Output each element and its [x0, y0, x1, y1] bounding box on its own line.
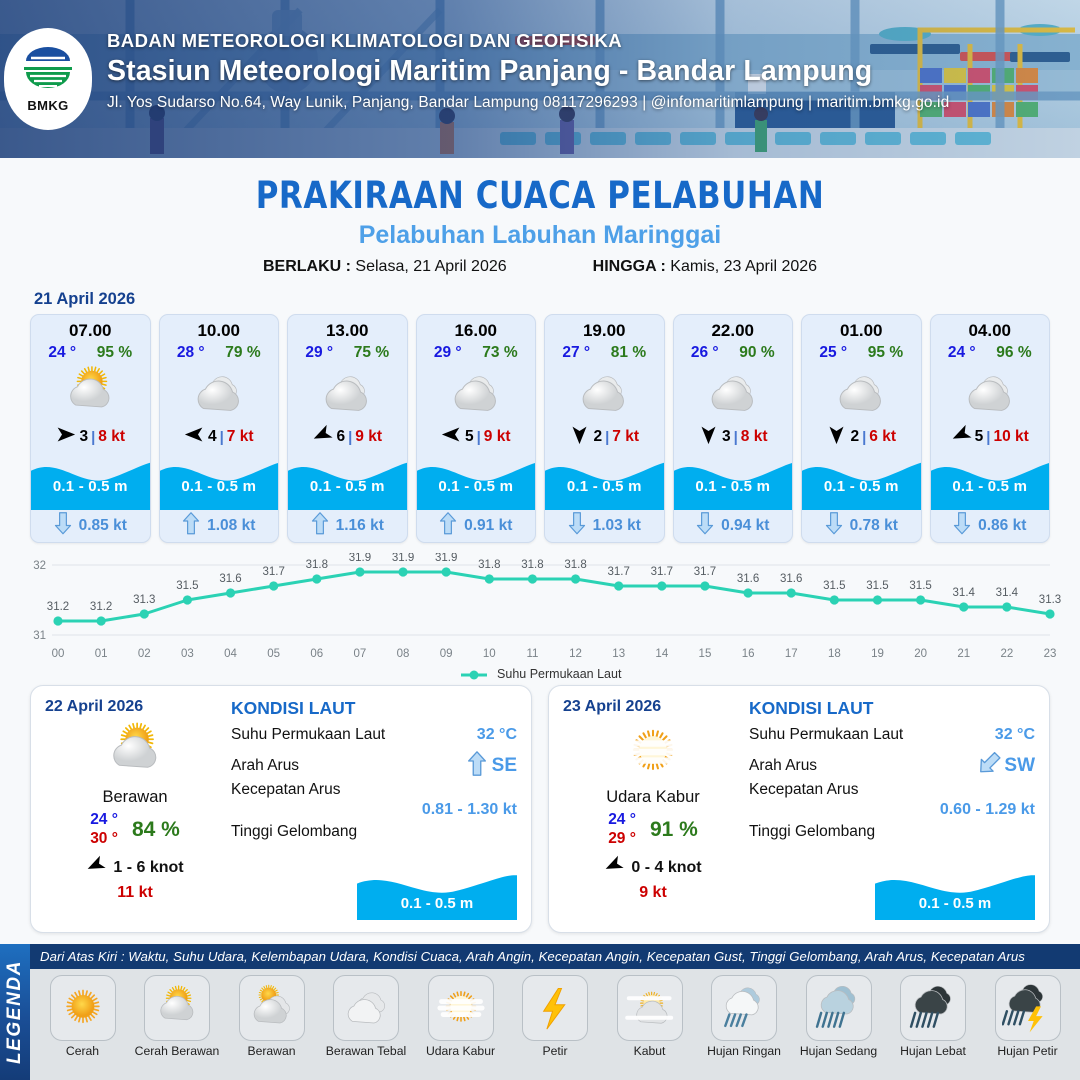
daily-summary-panels: 22 April 2026 Berawan 24 ° 30 ° 84 % 1 -… [0, 681, 1080, 933]
hingga-value: Kamis, 23 April 2026 [670, 258, 817, 275]
card-wind-direction: 3 [79, 428, 88, 446]
svg-text:31.5: 31.5 [823, 580, 845, 592]
svg-text:31.9: 31.9 [435, 553, 457, 564]
lightning-icon [522, 975, 588, 1041]
panel-wind-row: 1 - 6 knot [45, 855, 225, 880]
cloud-icon [802, 362, 921, 424]
thunderstorm-icon [995, 975, 1061, 1041]
card-wave-height: 0.1 - 0.5 m [802, 478, 921, 495]
card-wind-direction: 6 [336, 428, 345, 446]
card-wind-row: 4 | 7 kt [160, 422, 279, 452]
validity-dates: BERLAKU : Selasa, 21 April 2026 HINGGA :… [0, 258, 1080, 276]
panel-right: KONDISI LAUT Suhu Permukaan Laut 32 °C A… [743, 698, 1035, 922]
contact-line: Jl. Yos Sudarso No.64, Way Lunik, Panjan… [107, 94, 949, 112]
legend-item: Petir [511, 975, 600, 1058]
card-current-row: 1.16 kt [288, 510, 407, 542]
panel-date: 23 April 2026 [563, 698, 743, 716]
card-time: 10.00 [160, 321, 279, 341]
current-direction-arrow-icon [568, 512, 586, 540]
daily-summary-panel: 23 April 2026 Udara Kabur 24 ° 29 ° 91 %… [548, 685, 1050, 933]
moderate-rain-icon [806, 975, 872, 1041]
svg-text:12: 12 [569, 648, 582, 660]
svg-text:31.5: 31.5 [176, 580, 198, 592]
card-current-speed: 0.86 kt [978, 517, 1026, 535]
card-separator: | [862, 429, 866, 446]
card-humidity: 96 % [996, 344, 1031, 362]
sun-cloud-icon [45, 718, 225, 786]
daily-summary-panel: 22 April 2026 Berawan 24 ° 30 ° 84 % 1 -… [30, 685, 532, 933]
card-wind-speed: 7 kt [612, 428, 639, 446]
clouds-icon [333, 975, 399, 1041]
panel-sst-value: 32 °C [477, 726, 517, 744]
svg-text:31.7: 31.7 [694, 566, 716, 578]
svg-text:07: 07 [354, 648, 367, 660]
card-wind-row: 3 | 8 kt [31, 422, 150, 452]
panel-date: 22 April 2026 [45, 698, 225, 716]
svg-text:31.3: 31.3 [133, 594, 155, 606]
card-wave-block: 0.1 - 0.5 m [545, 454, 664, 510]
panel-sst-value: 32 °C [995, 726, 1035, 744]
card-temperature: 28 ° [177, 344, 205, 362]
card-time: 16.00 [417, 321, 536, 341]
card-temp-humidity-row: 24 ° 96 % [931, 344, 1050, 362]
card-temp-humidity-row: 24 ° 95 % [31, 344, 150, 362]
card-wind-row: 2 | 7 kt [545, 422, 664, 452]
svg-text:31.5: 31.5 [909, 580, 931, 592]
panel-condition: Udara Kabur [563, 788, 743, 807]
card-current-row: 0.85 kt [31, 510, 150, 542]
card-separator: | [986, 429, 990, 446]
legend-item-row: Cerah Cerah Berawan Berawan Berawan Teba… [30, 969, 1080, 1058]
panel-current-speed-value: 0.60 - 1.29 kt [749, 801, 1035, 819]
forecast-card: 13.00 29 ° 75 % 6 | 9 kt 0.1 - 0.5 m 1.1… [287, 314, 408, 543]
current-direction-arrow-icon [467, 751, 487, 781]
haze-sun-icon [563, 718, 743, 786]
legend-body: Dari Atas Kiri : Waktu, Suhu Udara, Kele… [30, 944, 1080, 1080]
panel-current-dir-row: Arah Arus SW [749, 751, 1035, 781]
svg-text:31.5: 31.5 [866, 580, 888, 592]
card-wave-height: 0.1 - 0.5 m [545, 478, 664, 495]
svg-text:19: 19 [871, 648, 884, 660]
svg-text:31.8: 31.8 [478, 559, 500, 571]
svg-text:31.2: 31.2 [47, 601, 69, 613]
berlaku-group: BERLAKU : Selasa, 21 April 2026 [263, 258, 507, 276]
card-current-speed: 0.91 kt [464, 517, 512, 535]
panel-temp-min: 24 ° [608, 811, 636, 829]
svg-text:13: 13 [612, 648, 625, 660]
card-wind-row: 6 | 9 kt [288, 422, 407, 452]
card-wave-height: 0.1 - 0.5 m [674, 478, 793, 495]
legend-item: Berawan Tebal [322, 975, 411, 1058]
heavy-rain-icon [900, 975, 966, 1041]
svg-text:31.7: 31.7 [608, 566, 630, 578]
card-wind-direction: 4 [208, 428, 217, 446]
card-time: 19.00 [545, 321, 664, 341]
sun-cloud-icon [31, 362, 150, 424]
panel-current-dir-value-group: SE [467, 751, 517, 781]
card-wind-direction: 3 [722, 428, 731, 446]
card-current-speed: 0.94 kt [721, 517, 769, 535]
hingga-group: HINGGA : Kamis, 23 April 2026 [593, 258, 817, 276]
panel-wave-label: Tinggi Gelombang [749, 823, 1035, 841]
card-current-speed: 0.78 kt [850, 517, 898, 535]
card-wave-block: 0.1 - 0.5 m [31, 454, 150, 510]
card-humidity: 79 % [225, 344, 260, 362]
cloud-icon [288, 362, 407, 424]
legend-item: Cerah Berawan [133, 975, 222, 1058]
card-humidity: 90 % [739, 344, 774, 362]
legend-item-label: Udara Kabur [416, 1044, 505, 1058]
cloud-sun-icon [239, 975, 305, 1041]
svg-text:22: 22 [1000, 648, 1013, 660]
svg-text:02: 02 [138, 648, 151, 660]
card-current-speed: 1.08 kt [207, 517, 255, 535]
card-wind-direction: 5 [465, 428, 474, 446]
card-temp-humidity-row: 26 ° 90 % [674, 344, 793, 362]
panel-wave-block: 0.1 - 0.5 m [875, 868, 1035, 920]
card-current-row: 1.03 kt [545, 510, 664, 542]
card-wave-block: 0.1 - 0.5 m [288, 454, 407, 510]
card-wind-direction: 2 [593, 428, 602, 446]
station-name: Stasiun Meteorologi Maritim Panjang - Ba… [107, 55, 949, 88]
panel-current-dir-value: SW [1004, 755, 1035, 777]
fog-icon [617, 975, 683, 1041]
header-text-block: BADAN METEOROLOGI KLIMATOLOGI DAN GEOFIS… [107, 30, 949, 112]
card-separator: | [477, 429, 481, 446]
svg-text:31.6: 31.6 [737, 573, 759, 585]
legend-item: Hujan Lebat [889, 975, 978, 1058]
svg-text:23: 23 [1044, 648, 1057, 660]
card-wind-speed: 9 kt [484, 428, 511, 446]
panel-sst-row: Suhu Permukaan Laut 32 °C [231, 726, 517, 744]
page-header: BMKG BADAN METEOROLOGI KLIMATOLOGI DAN G… [0, 0, 1080, 158]
legend-item: Hujan Ringan [700, 975, 789, 1058]
card-current-speed: 1.03 kt [593, 517, 641, 535]
card-temp-humidity-row: 25 ° 95 % [802, 344, 921, 362]
legend-side-bar: LEGENDA [0, 944, 30, 1080]
wind-direction-arrow-icon [55, 424, 76, 450]
panel-gust: 11 kt [45, 884, 225, 902]
forecast-card: 22.00 26 ° 90 % 3 | 8 kt 0.1 - 0.5 m 0.9… [673, 314, 794, 543]
panel-current-dir-label: Arah Arus [231, 757, 299, 775]
cloud-icon [674, 362, 793, 424]
wind-direction-arrow-icon [86, 855, 106, 880]
panel-current-dir-value-group: SW [979, 751, 1035, 781]
svg-text:00: 00 [52, 648, 65, 660]
cloud-icon [160, 362, 279, 424]
card-separator: | [220, 429, 224, 446]
card-temperature: 24 ° [948, 344, 976, 362]
card-humidity: 95 % [97, 344, 132, 362]
card-time: 04.00 [931, 321, 1050, 341]
wind-direction-arrow-icon [441, 424, 462, 450]
card-current-row: 0.86 kt [931, 510, 1050, 542]
legend-item: Hujan Petir [983, 975, 1072, 1058]
svg-text:31.8: 31.8 [306, 559, 328, 571]
panel-sst-label: Suhu Permukaan Laut [231, 726, 385, 744]
card-separator: | [734, 429, 738, 446]
card-current-row: 0.91 kt [417, 510, 536, 542]
card-current-speed: 1.16 kt [336, 517, 384, 535]
legend-side-title: LEGENDA [4, 960, 26, 1064]
panel-gust: 9 kt [563, 884, 743, 902]
card-wave-height: 0.1 - 0.5 m [160, 478, 279, 495]
card-wind-row: 3 | 8 kt [674, 422, 793, 452]
berlaku-label: BERLAKU : [263, 258, 351, 275]
svg-text:06: 06 [310, 648, 323, 660]
card-wind-row: 5 | 9 kt [417, 422, 536, 452]
current-direction-arrow-icon [696, 512, 714, 540]
wind-direction-arrow-icon [569, 424, 590, 450]
svg-text:31.4: 31.4 [953, 587, 976, 599]
panel-wave-block: 0.1 - 0.5 m [357, 868, 517, 920]
bmkg-logo-text: BMKG [27, 98, 68, 113]
card-temperature: 24 ° [48, 344, 76, 362]
card-wind-speed: 7 kt [227, 428, 254, 446]
wind-direction-arrow-icon [184, 424, 205, 450]
panel-condition: Berawan [45, 788, 225, 807]
card-temperature: 29 ° [434, 344, 462, 362]
svg-text:31.4: 31.4 [996, 587, 1019, 599]
legend-item: Cerah [38, 975, 127, 1058]
card-wind-direction: 2 [850, 428, 859, 446]
svg-text:31.3: 31.3 [1039, 594, 1061, 606]
panel-humidity: 84 % [132, 818, 180, 842]
card-humidity: 75 % [354, 344, 389, 362]
panel-current-speed-block: Kecepatan Arus 0.81 - 1.30 kt [231, 781, 517, 819]
svg-text:09: 09 [440, 648, 453, 660]
card-wave-block: 0.1 - 0.5 m [674, 454, 793, 510]
page-subtitle: Pelabuhan Labuhan Maringgai [0, 221, 1080, 250]
wind-direction-arrow-icon [826, 424, 847, 450]
panel-humidity: 91 % [650, 818, 698, 842]
card-current-row: 1.08 kt [160, 510, 279, 542]
bmkg-logo-glyph [20, 45, 76, 97]
card-wave-block: 0.1 - 0.5 m [160, 454, 279, 510]
card-wind-speed: 8 kt [98, 428, 125, 446]
current-direction-arrow-icon [439, 512, 457, 540]
legend-item-label: Hujan Ringan [700, 1044, 789, 1058]
svg-text:16: 16 [742, 648, 755, 660]
forecast-card: 01.00 25 ° 95 % 2 | 6 kt 0.1 - 0.5 m 0.7… [801, 314, 922, 543]
svg-text:31.9: 31.9 [349, 553, 371, 564]
legend-item-label: Berawan [227, 1044, 316, 1058]
current-direction-arrow-icon [182, 512, 200, 540]
panel-left: 23 April 2026 Udara Kabur 24 ° 29 ° 91 %… [563, 698, 743, 922]
panel-sst-label: Suhu Permukaan Laut [749, 726, 903, 744]
wind-direction-arrow-icon [951, 424, 972, 450]
card-temp-humidity-row: 29 ° 73 % [417, 344, 536, 362]
legend-item: Berawan [227, 975, 316, 1058]
card-wind-speed: 6 kt [869, 428, 896, 446]
svg-text:31.8: 31.8 [564, 559, 586, 571]
legend-section: LEGENDA Dari Atas Kiri : Waktu, Suhu Uda… [0, 944, 1080, 1080]
panel-sst-row: Suhu Permukaan Laut 32 °C [749, 726, 1035, 744]
svg-text:10: 10 [483, 648, 496, 660]
legend-item: Kabut [605, 975, 694, 1058]
card-temperature: 29 ° [305, 344, 333, 362]
card-wave-height: 0.1 - 0.5 m [417, 478, 536, 495]
card-temperature: 27 ° [562, 344, 590, 362]
current-direction-arrow-icon [979, 751, 999, 781]
card-wave-height: 0.1 - 0.5 m [31, 478, 150, 495]
svg-text:03: 03 [181, 648, 194, 660]
light-rain-icon [711, 975, 777, 1041]
card-time: 22.00 [674, 321, 793, 341]
berlaku-value: Selasa, 21 April 2026 [355, 258, 506, 275]
panel-temp-max: 30 ° [90, 830, 118, 848]
card-wave-block: 0.1 - 0.5 m [802, 454, 921, 510]
wind-direction-arrow-icon [312, 424, 333, 450]
card-separator: | [605, 429, 609, 446]
svg-text:31.2: 31.2 [90, 601, 112, 613]
current-direction-arrow-icon [54, 512, 72, 540]
card-separator: | [348, 429, 352, 446]
card-current-row: 0.78 kt [802, 510, 921, 542]
card-humidity: 81 % [611, 344, 646, 362]
sun-cloud-icon [144, 975, 210, 1041]
svg-text:01: 01 [95, 648, 108, 660]
legend-item-label: Hujan Petir [983, 1044, 1072, 1058]
panel-left: 22 April 2026 Berawan 24 ° 30 ° 84 % 1 -… [45, 698, 225, 922]
legend-item-label: Berawan Tebal [322, 1044, 411, 1058]
svg-text:31.8: 31.8 [521, 559, 543, 571]
card-wave-height: 0.1 - 0.5 m [288, 478, 407, 495]
panel-wave-label: Tinggi Gelombang [231, 823, 517, 841]
svg-text:32: 32 [33, 560, 46, 572]
card-wave-block: 0.1 - 0.5 m [931, 454, 1050, 510]
panel-sea-heading: KONDISI LAUT [231, 698, 517, 719]
title-block: PRAKIRAAN CUACA PELABUHAN Pelabuhan Labu… [0, 174, 1080, 276]
sst-chart: 323131.20031.20131.30231.50331.60431.705… [18, 553, 1062, 671]
card-wind-direction: 5 [975, 428, 984, 446]
hingga-label: HINGGA : [593, 258, 666, 275]
panel-current-speed-value: 0.81 - 1.30 kt [231, 801, 517, 819]
card-temperature: 26 ° [691, 344, 719, 362]
card-time: 13.00 [288, 321, 407, 341]
panel-current-speed-block: Kecepatan Arus 0.60 - 1.29 kt [749, 781, 1035, 819]
svg-text:04: 04 [224, 648, 237, 660]
panel-current-speed-label: Kecepatan Arus [749, 781, 1035, 799]
sst-chart-svg: 323131.20031.20131.30231.50331.60431.705… [18, 553, 1062, 671]
forecast-card: 19.00 27 ° 81 % 2 | 7 kt 0.1 - 0.5 m 1.0… [544, 314, 665, 543]
card-time: 07.00 [31, 321, 150, 341]
forecast-day-label: 21 April 2026 [34, 290, 1080, 309]
panel-current-dir-label: Arah Arus [749, 757, 817, 775]
card-wind-row: 5 | 10 kt [931, 422, 1050, 452]
panel-wave-value: 0.1 - 0.5 m [875, 895, 1035, 912]
haze-sun-icon [428, 975, 494, 1041]
current-direction-arrow-icon [825, 512, 843, 540]
forecast-card: 16.00 29 ° 73 % 5 | 9 kt 0.1 - 0.5 m 0.9… [416, 314, 537, 543]
card-temp-humidity-row: 29 ° 75 % [288, 344, 407, 362]
svg-text:31.9: 31.9 [392, 553, 414, 564]
card-wind-speed: 8 kt [741, 428, 768, 446]
panel-right: KONDISI LAUT Suhu Permukaan Laut 32 °C A… [225, 698, 517, 922]
card-wind-row: 2 | 6 kt [802, 422, 921, 452]
legend-item-label: Cerah Berawan [133, 1044, 222, 1058]
panel-current-speed-label: Kecepatan Arus [231, 781, 517, 799]
svg-text:31: 31 [33, 630, 46, 642]
legend-item-label: Kabut [605, 1044, 694, 1058]
card-humidity: 95 % [868, 344, 903, 362]
card-wind-speed: 10 kt [993, 428, 1028, 446]
panel-temp-humidity: 24 ° 29 ° 91 % [563, 811, 743, 848]
legend-item: Udara Kabur [416, 975, 505, 1058]
card-temp-humidity-row: 28 ° 79 % [160, 344, 279, 362]
svg-text:21: 21 [957, 648, 970, 660]
panel-temp-col: 24 ° 30 ° [90, 811, 118, 848]
sun-icon [50, 975, 116, 1041]
panel-temp-min: 24 ° [90, 811, 118, 829]
wind-direction-arrow-icon [698, 424, 719, 450]
panel-temp-col: 24 ° 29 ° [608, 811, 636, 848]
legend-item-label: Hujan Sedang [794, 1044, 883, 1058]
card-current-speed: 0.85 kt [79, 517, 127, 535]
svg-text:31.6: 31.6 [219, 573, 241, 585]
current-direction-arrow-icon [311, 512, 329, 540]
forecast-card: 10.00 28 ° 79 % 4 | 7 kt 0.1 - 0.5 m 1.0… [159, 314, 280, 543]
card-wind-speed: 9 kt [355, 428, 382, 446]
agency-name: BADAN METEOROLOGI KLIMATOLOGI DAN GEOFIS… [107, 30, 949, 52]
card-wave-height: 0.1 - 0.5 m [931, 478, 1050, 495]
panel-current-dir-value: SE [492, 755, 517, 777]
panel-sea-heading: KONDISI LAUT [749, 698, 1035, 719]
current-direction-arrow-icon [953, 512, 971, 540]
wind-direction-arrow-icon [604, 855, 624, 880]
legend-note: Dari Atas Kiri : Waktu, Suhu Udara, Kele… [30, 944, 1080, 969]
forecast-card-row: 07.00 24 ° 95 % 3 | 8 kt 0.1 - 0.5 m 0.8… [0, 314, 1080, 543]
bmkg-logo: BMKG [4, 28, 92, 130]
card-wave-block: 0.1 - 0.5 m [417, 454, 536, 510]
forecast-card: 07.00 24 ° 95 % 3 | 8 kt 0.1 - 0.5 m 0.8… [30, 314, 151, 543]
panel-temp-max: 29 ° [608, 830, 636, 848]
panel-wave-value: 0.1 - 0.5 m [357, 895, 517, 912]
svg-text:05: 05 [267, 648, 280, 660]
legend-item-label: Cerah [38, 1044, 127, 1058]
svg-text:31.7: 31.7 [651, 566, 673, 578]
svg-text:17: 17 [785, 648, 798, 660]
cloud-icon [545, 362, 664, 424]
cloud-icon [417, 362, 536, 424]
forecast-card: 04.00 24 ° 96 % 5 | 10 kt 0.1 - 0.5 m 0.… [930, 314, 1051, 543]
panel-current-dir-row: Arah Arus SE [231, 751, 517, 781]
card-current-row: 0.94 kt [674, 510, 793, 542]
card-temp-humidity-row: 27 ° 81 % [545, 344, 664, 362]
card-time: 01.00 [802, 321, 921, 341]
svg-text:08: 08 [397, 648, 410, 660]
panel-wind-range: 1 - 6 knot [113, 859, 183, 877]
panel-wind-range: 0 - 4 knot [631, 859, 701, 877]
legend-item: Hujan Sedang [794, 975, 883, 1058]
panel-temp-humidity: 24 ° 30 ° 84 % [45, 811, 225, 848]
legend-item-label: Petir [511, 1044, 600, 1058]
svg-text:11: 11 [526, 648, 538, 660]
cloud-icon [931, 362, 1050, 424]
card-humidity: 73 % [482, 344, 517, 362]
panel-wind-row: 0 - 4 knot [563, 855, 743, 880]
legend-item-label: Hujan Lebat [889, 1044, 978, 1058]
svg-text:14: 14 [655, 648, 668, 660]
card-separator: | [91, 429, 95, 446]
page-title: PRAKIRAAN CUACA PELABUHAN [38, 174, 1042, 217]
svg-text:31.7: 31.7 [262, 566, 284, 578]
card-temperature: 25 ° [819, 344, 847, 362]
svg-text:20: 20 [914, 648, 927, 660]
svg-text:18: 18 [828, 648, 841, 660]
svg-text:15: 15 [699, 648, 712, 660]
svg-text:31.6: 31.6 [780, 573, 802, 585]
